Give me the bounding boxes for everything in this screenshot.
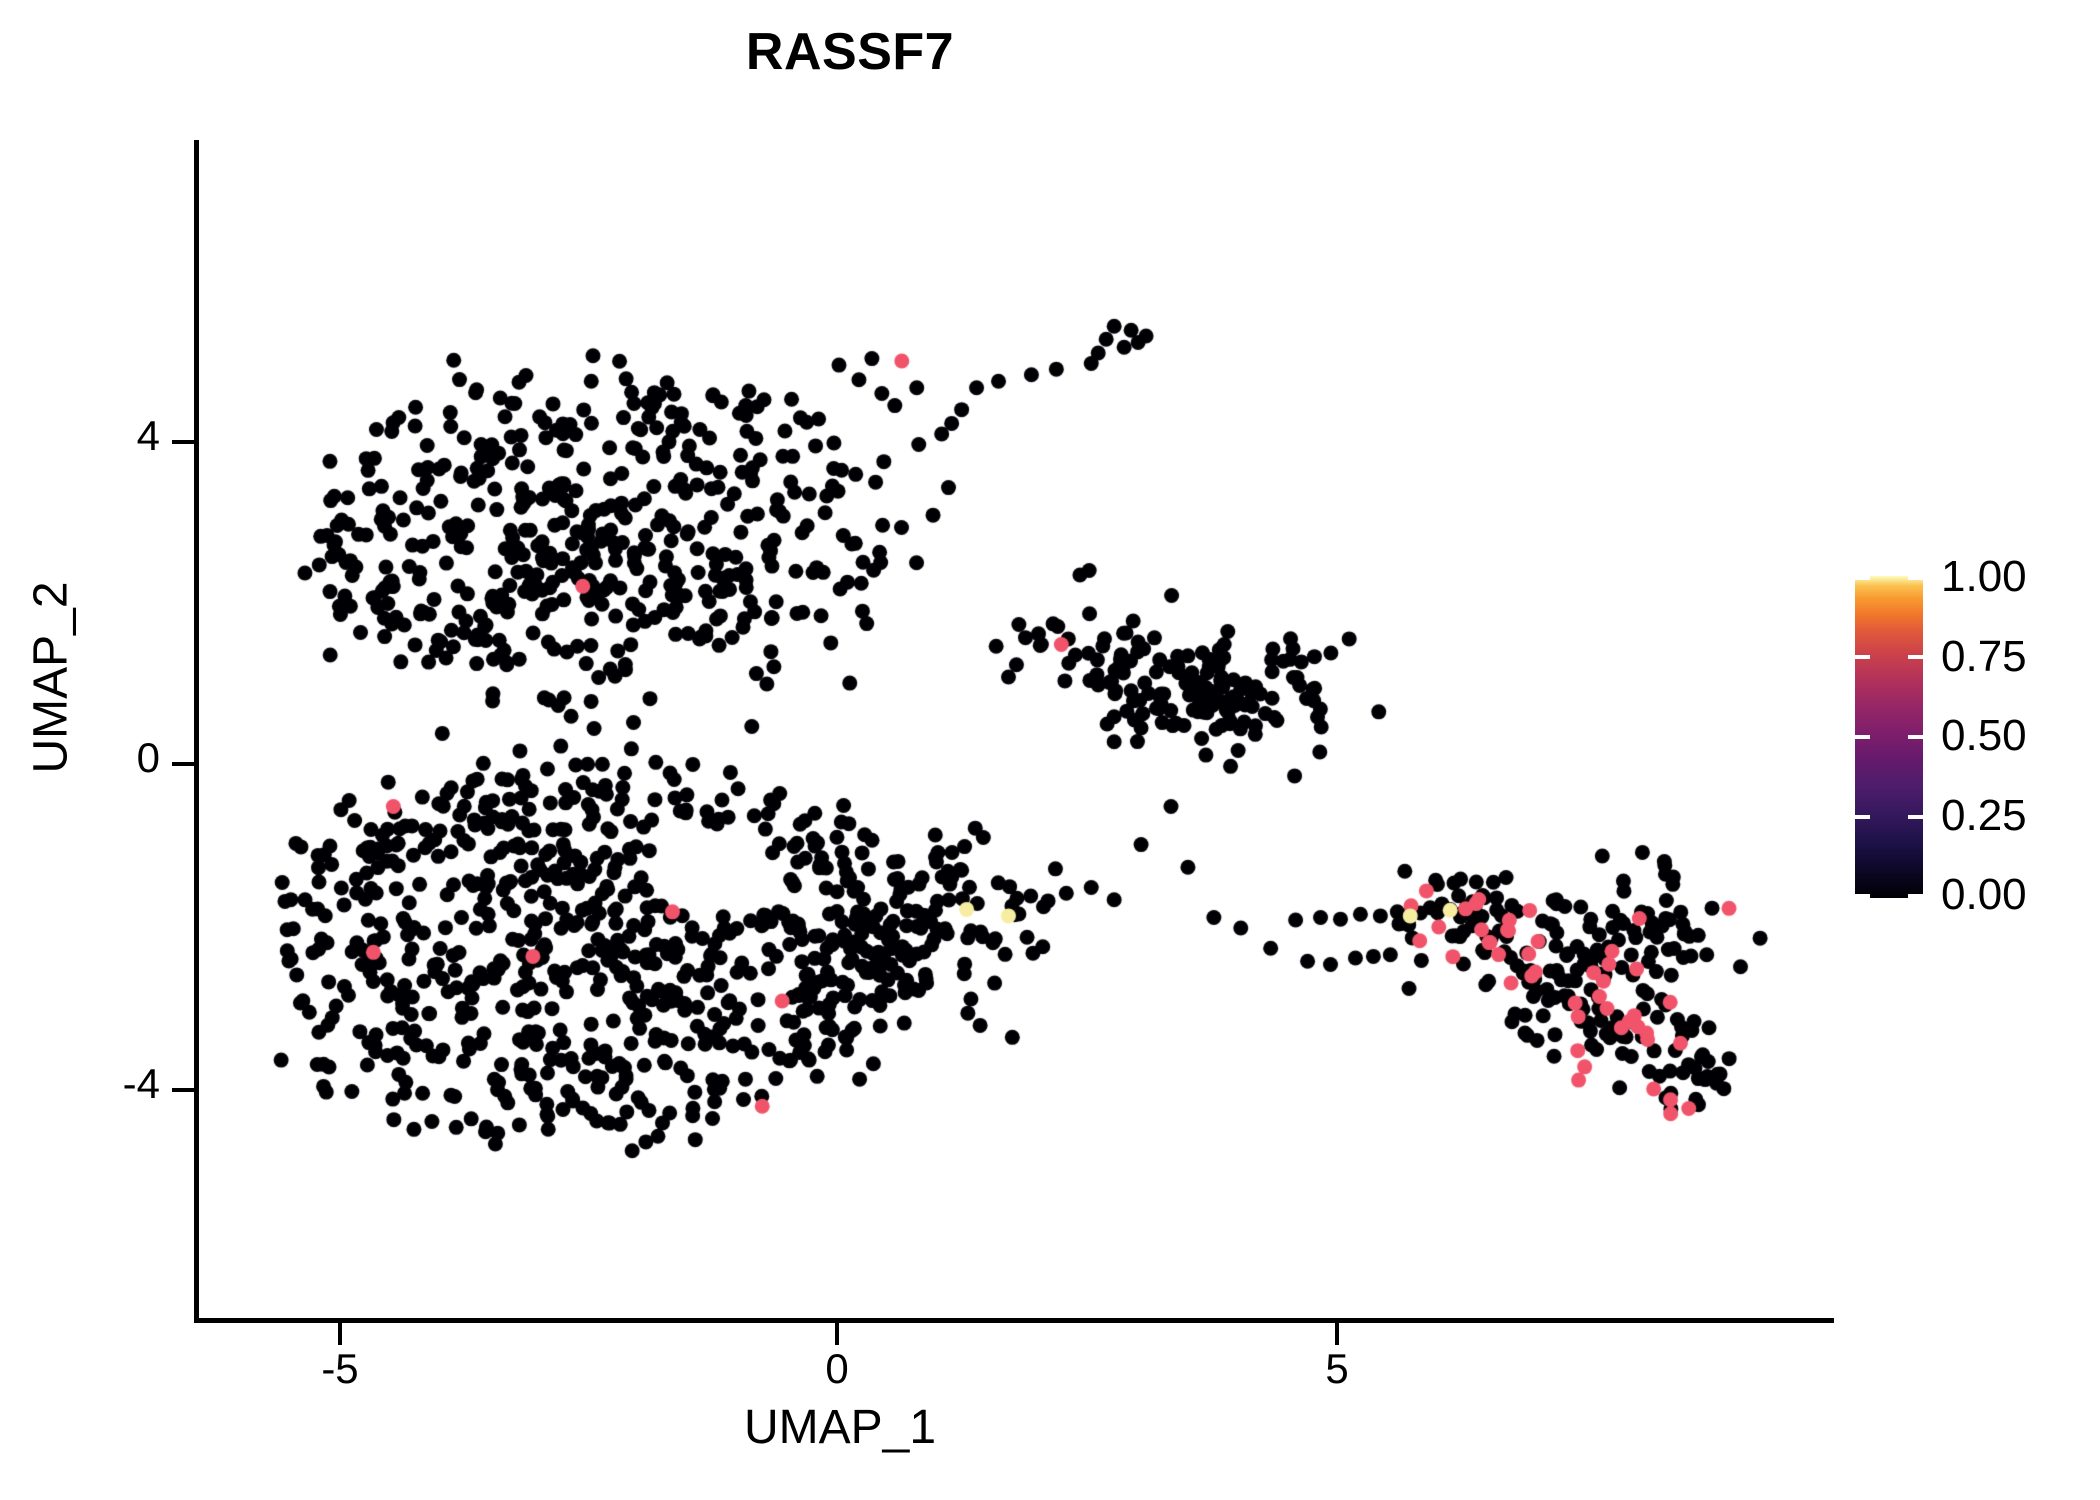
x-tick-mark-5	[1335, 1323, 1339, 1345]
colorbar-label-1-00: 1.00	[1941, 552, 2027, 602]
x-axis-title: UMAP_1	[605, 1400, 1075, 1455]
colorbar-legend[interactable]: 1.00 0.75 0.50 0.25 0.00	[1855, 576, 2075, 900]
x-axis-line	[194, 1318, 1834, 1323]
x-tick-mark-neg5	[338, 1323, 342, 1345]
colorbar-tick-0-75-left	[1855, 655, 1870, 659]
scatter-plot-canvas[interactable]	[0, 0, 2100, 1500]
colorbar-label-0-50: 0.50	[1941, 711, 2027, 761]
y-tick-mark-neg4	[172, 1088, 194, 1092]
umap-feature-plot: RASSF7 4 0 -4 -5 0 5 UMAP_1 UMAP_2 1.00 …	[0, 0, 2100, 1500]
colorbar-tick-0-50-right	[1908, 735, 1923, 739]
y-axis-title: UMAP_2	[24, 443, 79, 913]
y-tick-label-neg4: -4	[40, 1060, 160, 1108]
colorbar-tick-1-00-right	[1908, 576, 1923, 580]
x-tick-label-0: 0	[757, 1345, 917, 1393]
colorbar-label-0-00: 0.00	[1941, 870, 2027, 920]
colorbar-tick-0-00-left	[1855, 894, 1870, 898]
y-tick-mark-0	[172, 762, 194, 766]
x-tick-mark-0	[835, 1323, 839, 1345]
colorbar-tick-0-50-left	[1855, 735, 1870, 739]
colorbar-gradient	[1855, 576, 1923, 898]
colorbar-tick-0-25-left	[1855, 815, 1870, 819]
x-tick-label-neg5: -5	[260, 1345, 420, 1393]
colorbar-tick-1-00-left	[1855, 576, 1870, 580]
y-axis-line	[194, 140, 199, 1318]
y-tick-mark-4	[172, 440, 194, 444]
colorbar-tick-0-25-right	[1908, 815, 1923, 819]
colorbar-tick-0-00-right	[1908, 894, 1923, 898]
colorbar-tick-0-75-right	[1908, 655, 1923, 659]
x-tick-label-5: 5	[1257, 1345, 1417, 1393]
colorbar-label-0-75: 0.75	[1941, 632, 2027, 682]
colorbar-label-0-25: 0.25	[1941, 791, 2027, 841]
